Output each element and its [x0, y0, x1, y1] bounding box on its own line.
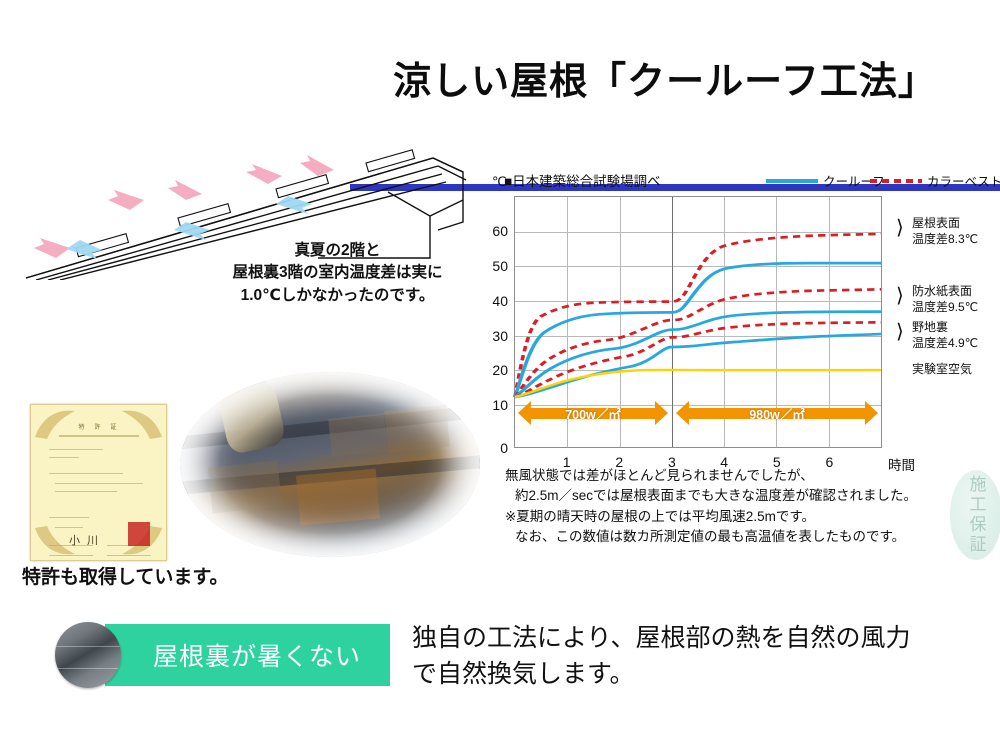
series-roof-coolroof: [515, 263, 881, 397]
y-tick-20: 20: [482, 362, 508, 378]
bottom-description: 独自の工法により、屋根部の熱を自然の風力 で自然換気します。: [412, 620, 982, 693]
series-lab-air: [515, 370, 881, 397]
roof-caption: 真夏の2階と 屋根裏3階の室内温度差は実に 1.0℃しかなかったのです。: [195, 240, 480, 307]
annotation-underside-name: 野地裏: [912, 320, 978, 336]
legend-item-coolroof: クールーフ: [766, 171, 885, 190]
footnote-line-2: 約2.5m／secでは屋根表面までも大きな温度差が確認されました。: [505, 486, 975, 506]
chart-footnotes: 無風状態では差がほとんど見られませんでしたが、 約2.5m／secでは屋根表面ま…: [505, 466, 975, 547]
series-roof-colorbest: [515, 234, 881, 397]
annotation-roof: 屋根表面 温度差8.3℃: [912, 216, 978, 247]
annotation-underside-value: 温度差4.9℃: [912, 336, 978, 352]
arrow-right-icon: [865, 401, 878, 425]
slide-root: 涼しい屋根「クールーフ工法」: [0, 0, 1000, 750]
bottom-description-line-1: 独自の工法により、屋根部の熱を自然の風力: [412, 620, 982, 656]
patent-certificate-image: 特 許 証 小 川: [30, 404, 167, 561]
legend-label-colorbest: カラーベスト: [927, 171, 1000, 190]
y-tick-40: 40: [482, 293, 508, 309]
chart-source-label: ■日本建築総合試験場調べ: [504, 170, 661, 190]
temperature-chart: ■日本建築総合試験場調べ クールーフ カラーベスト ℃: [492, 168, 992, 468]
page-title: 涼しい屋根「クールーフ工法」: [350, 62, 980, 104]
annotation-waterproof: 防水紙表面 温度差9.5℃: [912, 284, 978, 315]
y-tick-10: 10: [482, 397, 508, 413]
y-axis-unit: ℃: [492, 174, 507, 190]
irradiance-band-700: 700w／㎡: [518, 401, 668, 425]
chart-header: ■日本建築総合試験場調べ クールーフ カラーベスト: [498, 168, 992, 190]
legend-swatch-solid-icon: [766, 179, 818, 183]
patent-statement: 特許も取得しています。: [22, 562, 229, 589]
annotation-waterproof-value: 温度差9.5℃: [912, 300, 978, 316]
footnote-line-3: ※夏期の晴天時の屋根の上では平均風速2.5mです。: [505, 507, 975, 527]
roof-caption-line-1: 真夏の2階と: [195, 240, 480, 262]
footnote-line-4: なお、この数値は数カ所測定値の最も高温値を表したものです。: [505, 527, 975, 547]
roof-caption-line-3: 1.0℃しかなかったのです。: [195, 285, 480, 307]
certificate-heading: 特 許 証: [31, 422, 166, 431]
feature-banner-label: 屋根裏が暑くない: [153, 637, 361, 673]
brace-underside-icon: ⟩: [896, 322, 910, 342]
irradiance-label-700: 700w／㎡: [565, 404, 621, 423]
certificate-signature: 小 川: [69, 532, 100, 548]
arrow-right-icon: [655, 401, 668, 425]
annotation-underside: 野地裏 温度差4.9℃: [912, 320, 978, 351]
irradiance-label-980: 980w／㎡: [749, 404, 805, 423]
annotation-lab-air: 実験室空気: [912, 362, 972, 378]
series-waterproof-coolroof: [515, 312, 881, 397]
feature-banner: 屋根裏が暑くない: [105, 624, 390, 686]
irradiance-band-980: 980w／㎡: [676, 401, 878, 425]
banner-thumbnail: [55, 622, 121, 688]
photo-vignette: [180, 372, 480, 557]
legend-item-colorbest: カラーベスト: [870, 171, 1000, 190]
brace-waterproof-icon: ⟩: [896, 286, 910, 306]
y-tick-0: 0: [482, 440, 508, 456]
annotation-roof-value: 温度差8.3℃: [912, 232, 978, 248]
annotation-lab-air-name: 実験室空気: [912, 362, 972, 378]
plot-wrapper: ℃: [514, 196, 882, 448]
annotation-roof-name: 屋根表面: [912, 216, 978, 232]
watermark-text: 施工保証: [964, 475, 989, 555]
roof-caption-line-2: 屋根裏3階の室内温度差は実に: [195, 262, 480, 284]
certificate-seal-icon: [128, 522, 150, 546]
construction-photo: [180, 372, 480, 557]
y-tick-60: 60: [482, 223, 508, 239]
footnote-line-1: 無風状態では差がほとんど見られませんでしたが、: [505, 466, 975, 486]
bottom-description-line-2: で自然換気します。: [412, 656, 982, 692]
brace-roof-icon: ⟩: [896, 218, 910, 238]
y-tick-50: 50: [482, 258, 508, 274]
annotation-waterproof-name: 防水紙表面: [912, 284, 978, 300]
legend-swatch-dashed-icon: [870, 179, 922, 183]
series-underside-coolroof: [515, 334, 881, 397]
watermark-seal: 施工保証: [950, 470, 1000, 560]
title-block: 涼しい屋根「クールーフ工法」: [350, 62, 980, 104]
y-tick-30: 30: [482, 328, 508, 344]
